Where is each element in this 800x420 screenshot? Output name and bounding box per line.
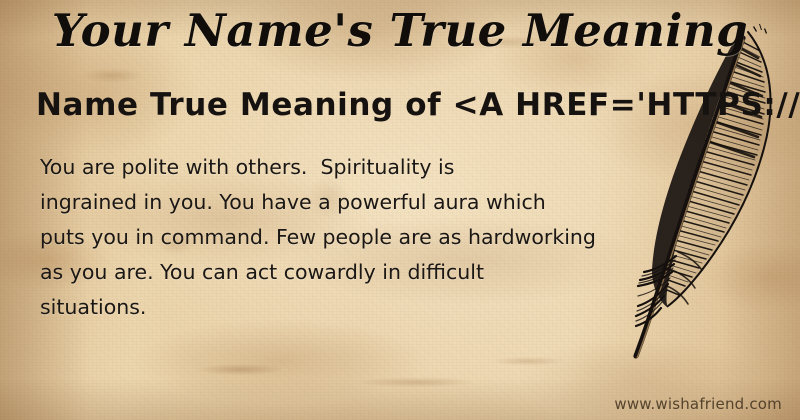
feather-vane-outline [668,32,771,306]
feather-lower-barbs [636,252,702,326]
feather-dark-vane [652,38,740,308]
page-title: Your Name's True Meaning [0,8,800,53]
meaning-description: You are polite with others. Spirituality… [40,150,640,325]
site-watermark: www.wishafriend.com [614,395,782,413]
card-subtitle: Name True Meaning of <A HREF='HTTPS:// [36,88,800,122]
quill-feather-icon [612,18,800,368]
feather-vane-fill [663,32,770,306]
feather-shaft [636,38,743,356]
feather-barb-hatching [667,40,765,295]
name-meaning-card: Your Name's True Meaning Name True Meani… [0,0,800,420]
